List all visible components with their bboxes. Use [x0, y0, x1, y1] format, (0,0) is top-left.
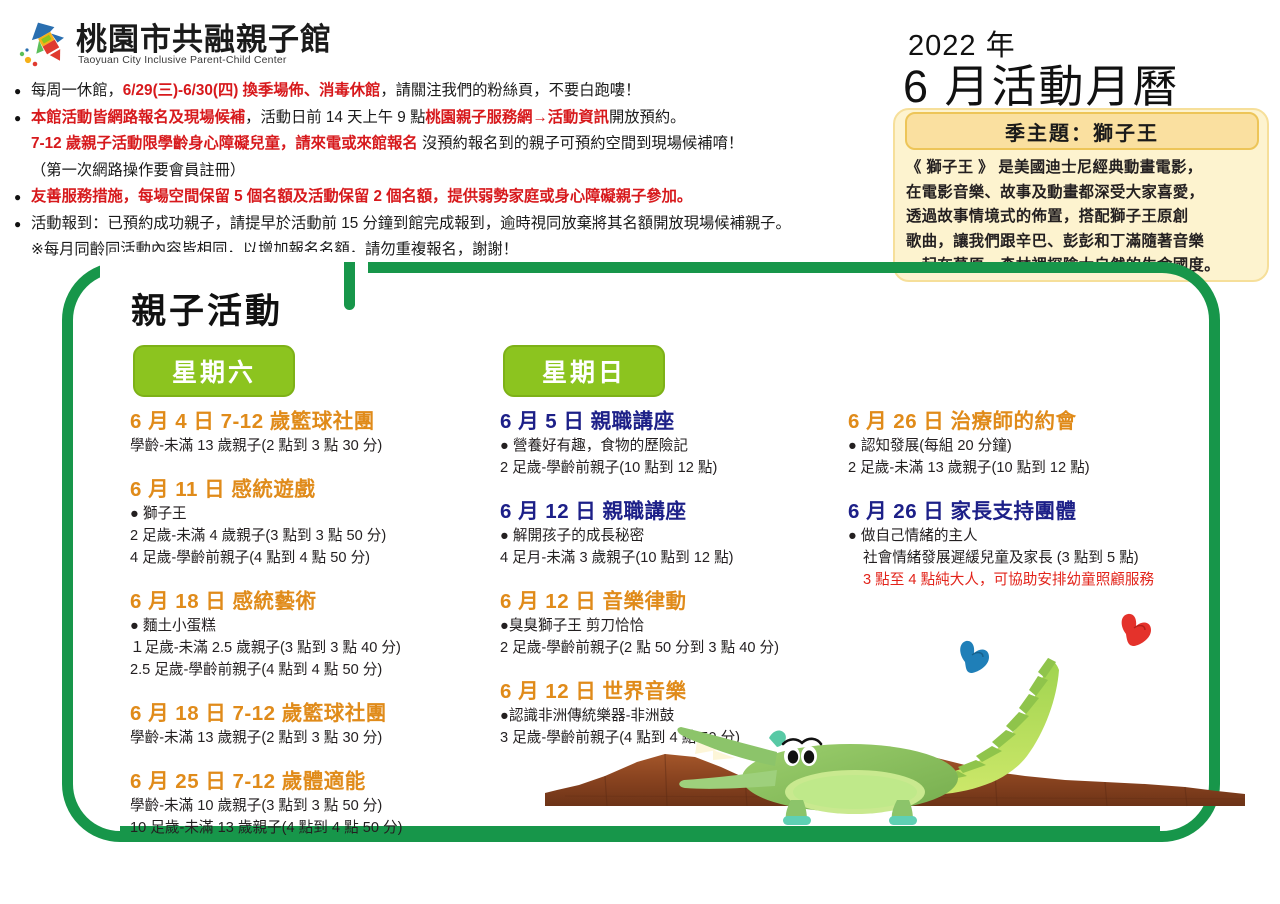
event-detail-line: 3 足歲-學齡前親子(4 點到 4 點 50 分): [500, 727, 850, 749]
season-theme-description: 《 獅子王 》 是美國迪士尼經典動畫電影，在電影音樂、故事及動畫都深受大家喜愛，…: [906, 156, 1258, 279]
notice-segment: ，活動日前 14 天上午 9 點: [245, 109, 425, 126]
notice-text: 活動報到：已預約成功親子，請提早於活動前 15 分鐘到館完成報到，逾時視同放棄將…: [31, 211, 791, 238]
notice-segment: （第一次網路操作要會員註冊）: [31, 162, 245, 179]
event-title: 6 月 26 日 家長支持團體: [848, 498, 1208, 525]
bullet-icon: ●: [14, 211, 31, 238]
notice-row: ●每周一休館，6/29(三)-6/30(四) 換季場佈、消毒休館，請關注我們的粉…: [14, 78, 914, 105]
pinwheel-rocket-logo-icon: [18, 16, 74, 68]
site-logo-block: 桃園市共融親子館 Taoyuan City Inclusive Parent-C…: [18, 14, 308, 76]
notice-segment: 6/29(三)-6/30(四) 換季場佈、消毒休館: [123, 82, 381, 99]
event-detail-line: 學齡-未滿 13 歲親子(2 點到 3 點 30 分): [130, 727, 480, 749]
event-detail-line: 2.5 足歲-學齡前親子(4 點到 4 點 50 分): [130, 659, 480, 681]
event-detail-line: 4 足月-未滿 3 歲親子(10 點到 12 點): [500, 547, 850, 569]
event-detail-line: ● 做自己情緒的主人: [848, 525, 1208, 547]
event-item: 6 月 12 日 音樂律動●臭臭獅子王 剪刀恰恰2 足歲-學齡前親子(2 點 5…: [500, 588, 850, 659]
event-title: 6 月 5 日 親職講座: [500, 408, 850, 435]
event-item: 6 月 11 日 感統遊戲● 獅子王2 足歲-未滿 4 歲親子(3 點到 3 點…: [130, 476, 480, 569]
notice-text: 友善服務措施，每場空間保留 5 個名額及活動保留 2 個名額，提供弱勢家庭或身心…: [31, 184, 692, 211]
notice-list: ●每周一休館，6/29(三)-6/30(四) 換季場佈、消毒休館，請關注我們的粉…: [14, 78, 914, 264]
event-detail-line: 學齡-未滿 13 歲親子(2 點到 3 點 30 分): [130, 435, 480, 457]
theme-line: 《 獅子王 》 是美國迪士尼經典動畫電影，: [906, 156, 1258, 181]
notice-segment: ，請關注我們的粉絲頁，不要白跑嘍！: [380, 82, 640, 99]
theme-line: 歌曲，讓我們跟辛巴、彭彭和丁滿隨著音樂: [906, 230, 1258, 255]
event-detail-line: 2 足歲-學齡前親子(10 點到 12 點): [500, 457, 850, 479]
season-theme-badge: 季主題：獅子王: [905, 112, 1259, 150]
notice-row: （第一次網路操作要會員註冊）: [14, 158, 914, 185]
month-title: 6 月活動月曆: [903, 50, 1180, 115]
notice-segment: 7-12 歲親子活動限學齡身心障礙兒童，請來電或來館報名: [31, 135, 418, 152]
event-title: 6 月 26 日 治療師的約會: [848, 408, 1208, 435]
theme-line: 在電影音樂、故事及動畫都深受大家喜愛，: [906, 181, 1258, 206]
notice-segment: 友善服務措施，每場空間保留 5 個名額及活動保留 2 個名額，提供弱勢家庭或身心…: [31, 188, 692, 205]
bullet-icon: ●: [14, 78, 31, 105]
bullet-icon: ●: [14, 184, 31, 211]
event-item: 6 月 26 日 治療師的約會● 認知發展(每組 20 分鐘)2 足歲-未滿 1…: [848, 408, 1208, 479]
event-detail-line: ●認識非洲傳統樂器-非洲鼓: [500, 705, 850, 727]
event-detail-line: 2 足歲-未滿 13 歲親子(10 點到 12 點): [848, 457, 1208, 479]
event-detail-line: ● 解開孩子的成長秘密: [500, 525, 850, 547]
event-item: 6 月 4 日 7-12 歲籃球社團學齡-未滿 13 歲親子(2 點到 3 點 …: [130, 408, 480, 457]
notice-row: ●友善服務措施，每場空間保留 5 個名額及活動保留 2 個名額，提供弱勢家庭或身…: [14, 184, 914, 211]
day-chip-saturday: 星期六: [133, 345, 295, 397]
event-item: 6 月 18 日 感統藝術● 麵土小蛋糕１足歲-未滿 2.5 歲親子(3 點到 …: [130, 588, 480, 681]
event-detail-line: 2 足歲-學齡前親子(2 點 50 分到 3 點 40 分): [500, 637, 850, 659]
event-detail-line: 4 足歲-學齡前親子(4 點到 4 點 50 分): [130, 547, 480, 569]
page-title: 親子活動: [131, 283, 283, 334]
notice-segment: 每周一休館，: [31, 82, 123, 99]
event-detail-line: 10 足歲-未滿 13 歲親子(4 點到 4 點 50 分): [130, 817, 480, 839]
event-detail-line: ●臭臭獅子王 剪刀恰恰: [500, 615, 850, 637]
notice-segment: 開放預約。: [609, 109, 686, 126]
event-detail-line: 社會情緒發展遲緩兒童及家長 (3 點到 5 點): [848, 547, 1208, 569]
notice-row: ●本館活動皆網路報名及現場候補，活動日前 14 天上午 9 點桃園親子服務網→活…: [14, 105, 914, 132]
event-title: 6 月 12 日 世界音樂: [500, 678, 850, 705]
event-title: 6 月 12 日 音樂律動: [500, 588, 850, 615]
event-detail-line: ● 營養好有趣，食物的歷險記: [500, 435, 850, 457]
event-detail-line: ● 麵土小蛋糕: [130, 615, 480, 637]
org-name-zh: 桃園市共融親子館: [76, 14, 332, 59]
event-detail-line: ● 認知發展(每組 20 分鐘): [848, 435, 1208, 457]
event-title: 6 月 18 日 感統藝術: [130, 588, 480, 615]
org-name-en: Taoyuan City Inclusive Parent-Child Cent…: [78, 54, 287, 66]
event-title: 6 月 4 日 7-12 歲籃球社團: [130, 408, 480, 435]
notice-segment: 本館活動皆網路報名及現場候補: [31, 109, 245, 126]
event-item: 6 月 26 日 家長支持團體● 做自己情緒的主人社會情緒發展遲緩兒童及家長 (…: [848, 498, 1208, 591]
notice-text: 本館活動皆網路報名及現場候補，活動日前 14 天上午 9 點桃園親子服務網→活動…: [31, 105, 685, 132]
event-detail-line: 2 足歲-未滿 4 歲親子(3 點到 3 點 50 分): [130, 525, 480, 547]
notice-segment: 桃園親子服務網→活動資訊: [425, 109, 609, 126]
event-title: 6 月 25 日 7-12 歲體適能: [130, 768, 480, 795]
event-title: 6 月 18 日 7-12 歲籃球社團: [130, 700, 480, 727]
event-detail-line: 3 點至 4 點純大人，可協助安排幼童照顧服務: [848, 569, 1208, 591]
notice-segment: 活動報到：已預約成功親子，請提早於活動前 15 分鐘到館完成報到，逾時視同放棄將…: [31, 215, 791, 232]
event-title: 6 月 12 日 親職講座: [500, 498, 850, 525]
event-item: 6 月 25 日 7-12 歲體適能學齡-未滿 10 歲親子(3 點到 3 點 …: [130, 768, 480, 839]
event-column-third: 6 月 26 日 治療師的約會● 認知發展(每組 20 分鐘)2 足歲-未滿 1…: [848, 408, 1208, 610]
notice-row: 7-12 歲親子活動限學齡身心障礙兒童，請來電或來館報名 沒預約報名到的親子可預…: [14, 131, 914, 158]
notice-segment: 沒預約報名到的親子可預約空間到現場候補唷！: [418, 135, 744, 152]
event-column-saturday: 6 月 4 日 7-12 歲籃球社團學齡-未滿 13 歲親子(2 點到 3 點 …: [130, 408, 480, 858]
event-item: 6 月 12 日 親職講座● 解開孩子的成長秘密4 足月-未滿 3 歲親子(10…: [500, 498, 850, 569]
notice-row: ●活動報到：已預約成功親子，請提早於活動前 15 分鐘到館完成報到，逾時視同放棄…: [14, 211, 914, 238]
event-item: 6 月 5 日 親職講座● 營養好有趣，食物的歷險記2 足歲-學齡前親子(10 …: [500, 408, 850, 479]
event-item: 6 月 12 日 世界音樂●認識非洲傳統樂器-非洲鼓3 足歲-學齡前親子(4 點…: [500, 678, 850, 749]
notice-text: 每周一休館，6/29(三)-6/30(四) 換季場佈、消毒休館，請關注我們的粉絲…: [31, 78, 640, 105]
day-chip-sunday: 星期日: [503, 345, 665, 397]
event-title: 6 月 11 日 感統遊戲: [130, 476, 480, 503]
bullet-icon: ●: [14, 105, 31, 132]
frame-notch-edge: [344, 262, 355, 310]
event-item: 6 月 18 日 7-12 歲籃球社團學齡-未滿 13 歲親子(2 點到 3 點…: [130, 700, 480, 749]
event-detail-line: １足歲-未滿 2.5 歲親子(3 點到 3 點 40 分): [130, 637, 480, 659]
event-column-sunday: 6 月 5 日 親職講座● 營養好有趣，食物的歷險記2 足歲-學齡前親子(10 …: [500, 408, 850, 768]
theme-line: 透過故事情境式的佈置，搭配獅子王原創: [906, 205, 1258, 230]
event-detail-line: ● 獅子王: [130, 503, 480, 525]
event-detail-line: 學齡-未滿 10 歲親子(3 點到 3 點 50 分): [130, 795, 480, 817]
